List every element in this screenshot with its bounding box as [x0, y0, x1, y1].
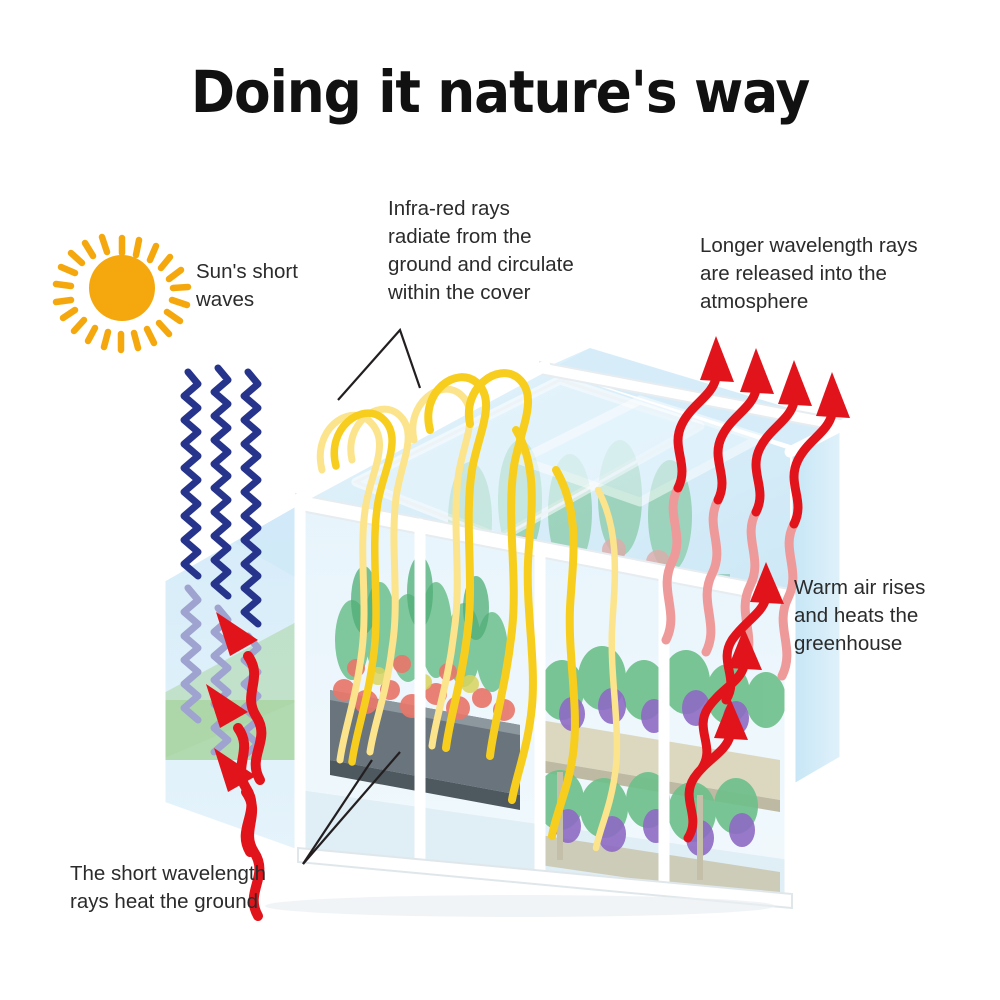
label-infra-red-rays: Infra-red rays radiate from the ground a…: [388, 195, 574, 307]
label-longer-wavelength: Longer wavelength rays are released into…: [700, 232, 918, 316]
label-suns-short-waves: Sun's short waves: [196, 258, 298, 314]
greenhouse-illustration: [0, 0, 1000, 1000]
label-short-wavelength-ground: The short wavelength rays heat the groun…: [70, 860, 266, 916]
infographic-canvas: Doing it nature's way: [0, 0, 1000, 1000]
label-warm-air-rises: Warm air rises and heats the greenhouse: [794, 574, 925, 658]
sun-icon: [56, 237, 188, 350]
